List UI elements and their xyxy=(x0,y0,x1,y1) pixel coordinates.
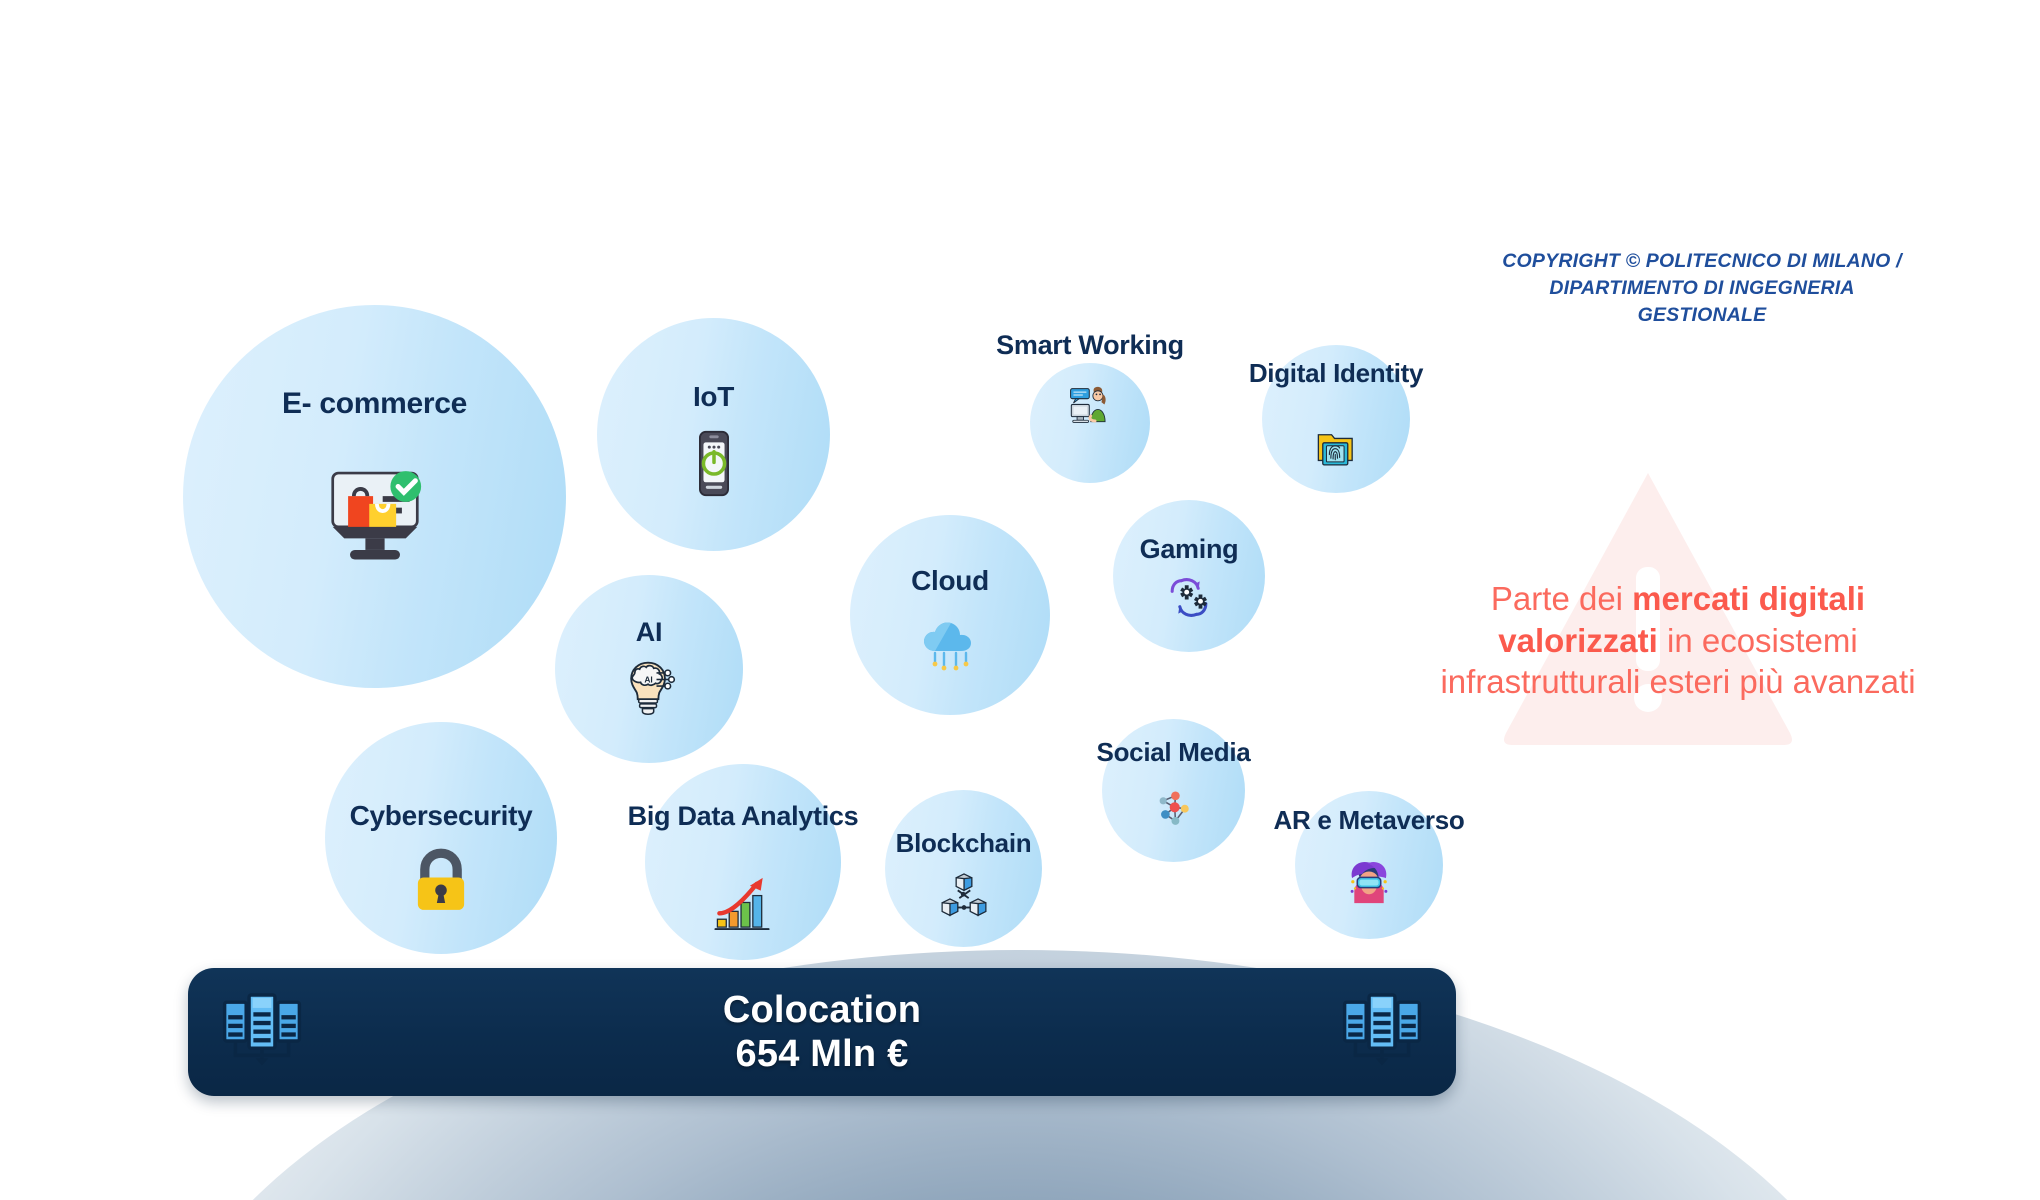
social-network-icon xyxy=(1151,785,1197,831)
bubble-label: Social Media xyxy=(1097,737,1251,768)
bubble-label: Gaming xyxy=(1140,534,1239,565)
iot-smartphone-icon xyxy=(676,426,751,501)
colocation-text: Colocation 654 Mln € xyxy=(723,988,921,1077)
bubble-label: Cloud xyxy=(911,565,989,597)
bubble-label: Blockchain xyxy=(896,828,1032,859)
ai-bulb-icon: AI xyxy=(619,657,679,717)
external-ecosystems-note: Parte dei mercati digitali valorizzati i… xyxy=(1428,455,1928,785)
bubble-smart-working[interactable]: Smart Working xyxy=(1030,363,1150,483)
bubble-label: Big Data Analytics xyxy=(625,802,861,832)
note-part-1: Parte dei xyxy=(1491,580,1632,617)
cloud-icon xyxy=(918,613,982,677)
padlock-icon xyxy=(404,844,478,918)
bar-chart-arrow-icon xyxy=(712,870,775,933)
bubble-blockchain[interactable]: Blockchain xyxy=(885,790,1042,947)
bubble-label: Digital Identity xyxy=(1242,359,1430,388)
bubble-cybersecurity[interactable]: Cybersecurity xyxy=(325,722,557,954)
server-rack-icon-left xyxy=(216,984,308,1081)
bubble-label: Cybersecurity xyxy=(350,800,533,832)
bubble-cloud[interactable]: Cloud xyxy=(850,515,1050,715)
bubble-label: IoT xyxy=(693,381,734,413)
server-rack-icon-right xyxy=(1336,984,1428,1081)
bubble-gaming[interactable]: Gaming xyxy=(1113,500,1265,652)
digital-identity-icon xyxy=(1313,423,1360,470)
gaming-gears-icon xyxy=(1165,573,1214,622)
copyright-line-2: DIPARTIMENTO DI INGEGNERIA GESTIONALE xyxy=(1502,275,1902,329)
ecommerce-monitor-icon xyxy=(313,450,436,573)
copyright-notice: COPYRIGHT © POLITECNICO DI MILANO / DIPA… xyxy=(1502,248,1902,329)
vr-headset-icon xyxy=(1346,859,1393,906)
bubble-big-data-analytics[interactable]: Big Data Analytics xyxy=(645,764,841,960)
bubble-label: Smart Working xyxy=(996,330,1184,361)
colocation-bar[interactable]: Colocation 654 Mln € xyxy=(188,968,1456,1096)
smart-working-icon xyxy=(1067,380,1113,426)
colocation-title: Colocation xyxy=(723,988,921,1032)
bubble-digital-identity[interactable]: Digital Identity xyxy=(1262,345,1410,493)
bubble-label: AI xyxy=(636,617,662,648)
svg-text:AI: AI xyxy=(644,674,652,684)
infographic-canvas: COPYRIGHT © POLITECNICO DI MILANO / DIPA… xyxy=(0,0,2040,1200)
copyright-line-1: COPYRIGHT © POLITECNICO DI MILANO / xyxy=(1502,248,1902,275)
bubble-e-commerce[interactable]: E- commerce xyxy=(183,305,566,688)
bubble-ar-e-metaverso[interactable]: AR e Metaverso xyxy=(1295,791,1443,939)
bubble-ai[interactable]: AI AI xyxy=(555,575,743,763)
blockchain-cubes-icon xyxy=(939,870,989,920)
bubble-label: E- commerce xyxy=(282,387,467,421)
bubble-iot[interactable]: IoT xyxy=(597,318,830,551)
bubble-label: AR e Metaverso xyxy=(1274,805,1465,836)
note-text: Parte dei mercati digitali valorizzati i… xyxy=(1428,578,1928,703)
colocation-value: 654 Mln € xyxy=(723,1032,921,1076)
bubble-social-media[interactable]: Social Media xyxy=(1102,719,1245,862)
